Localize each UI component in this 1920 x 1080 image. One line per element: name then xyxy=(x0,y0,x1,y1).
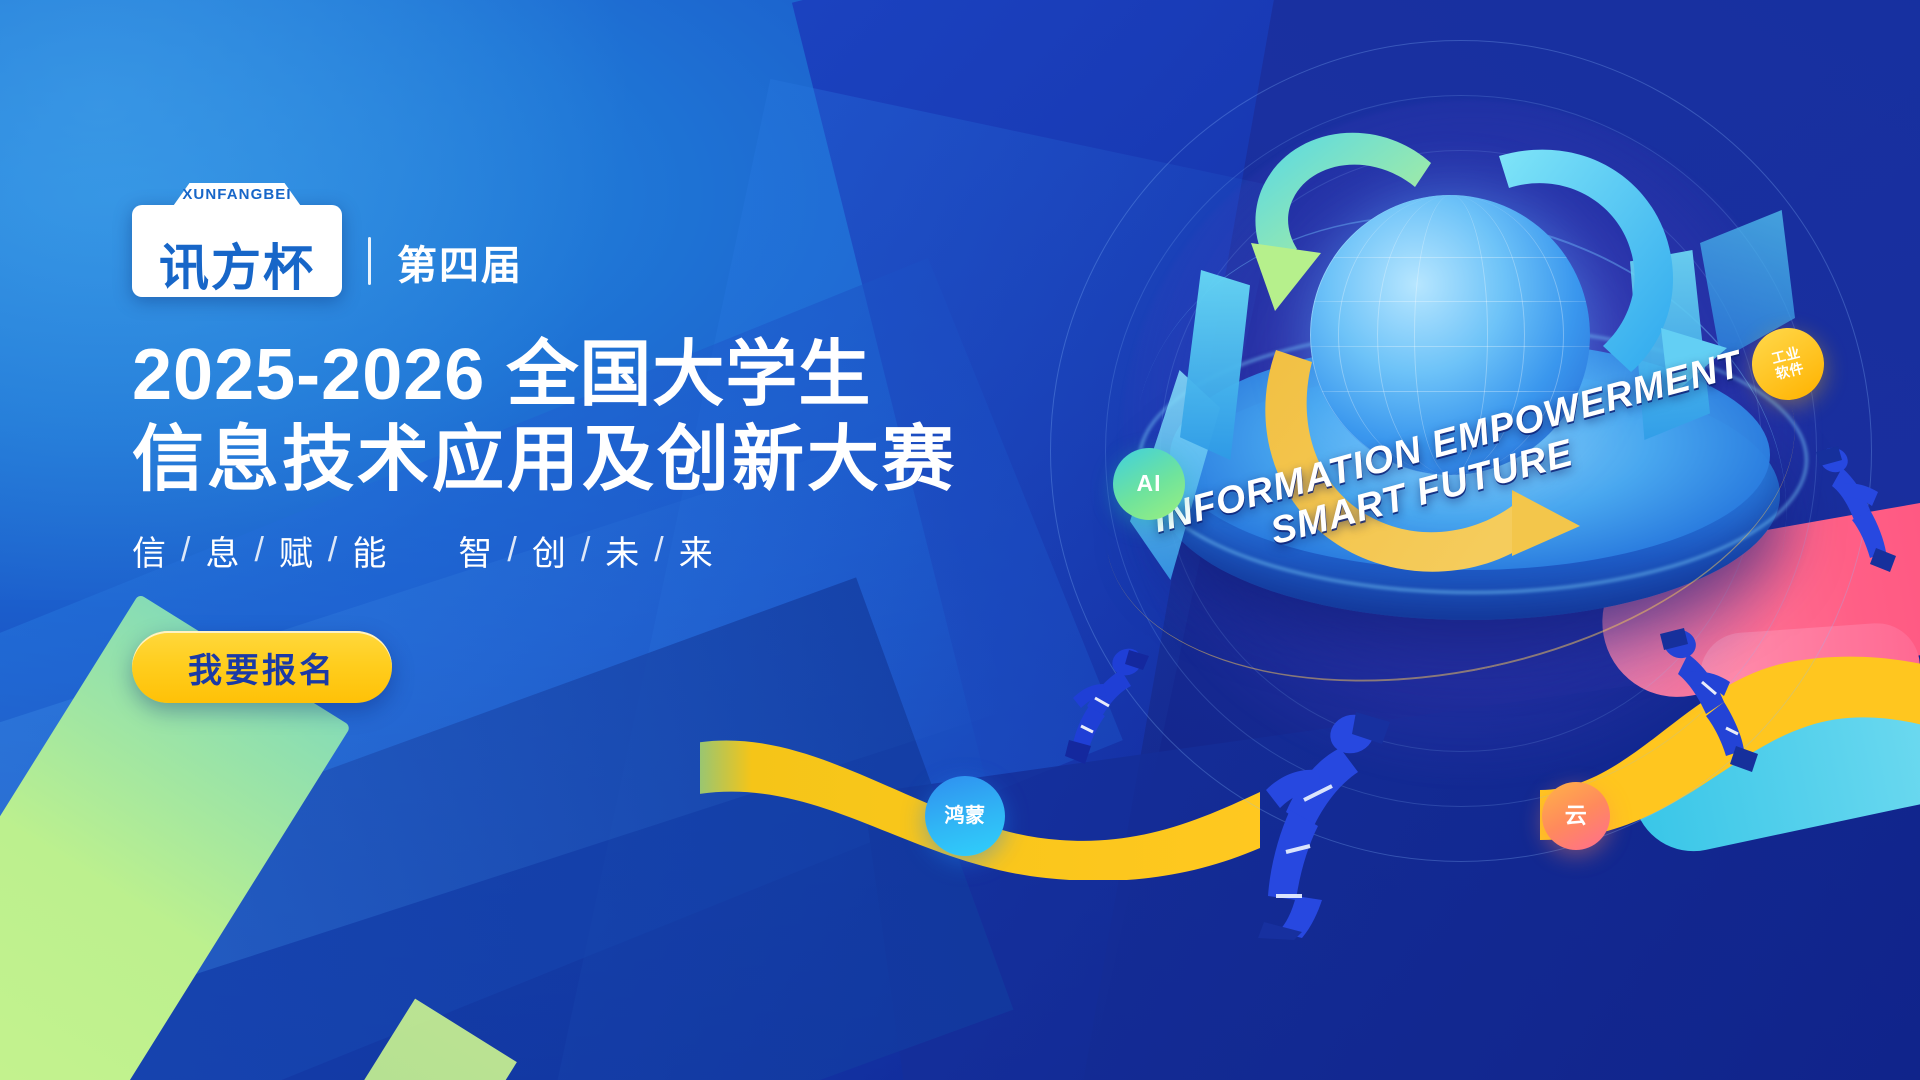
badge-cloud: 云 xyxy=(1542,782,1610,850)
runner-figure-3 xyxy=(1640,620,1770,800)
title-line-1: 2025-2026 全国大学生 xyxy=(132,335,1112,416)
tagline-char: 赋 xyxy=(279,526,315,575)
badge-ai: AI xyxy=(1113,448,1185,520)
tagline-char: 能 xyxy=(352,526,388,575)
brand-lockup: XUNFANGBEI 讯方杯 第四届 xyxy=(132,205,1112,297)
logo-pinyin: XUNFANGBEI xyxy=(182,186,291,203)
runner-figure-4 xyxy=(1790,440,1910,590)
runner-figure-2 xyxy=(1240,700,1410,940)
tagline-char: 未 xyxy=(605,526,641,575)
tagline-slash: / xyxy=(654,531,665,570)
tagline-slash: / xyxy=(507,531,518,570)
tagline: 信 / 息 / 赋 / 能 智 / 创 / 未 / 来 xyxy=(132,526,1112,575)
tagline-char: 息 xyxy=(205,526,241,575)
hero-content: XUNFANGBEI 讯方杯 第四届 2025-2026 全国大学生 信息技术应… xyxy=(132,205,1112,703)
tagline-slash: / xyxy=(328,531,339,570)
tagline-slash: / xyxy=(254,531,265,570)
promo-banner: INFORMATION EMPOWERMENT SMART FUTURE xyxy=(0,0,1920,1080)
tagline-group-right: 智 / 创 / 未 / 来 xyxy=(458,526,714,575)
logo-chinese-name: 讯方杯 xyxy=(132,243,342,293)
tagline-slash: / xyxy=(181,531,192,570)
edition-label: 第四届 xyxy=(397,233,523,291)
tagline-group-left: 信 / 息 / 赋 / 能 xyxy=(132,526,388,575)
register-button[interactable]: 我要报名 xyxy=(132,631,392,703)
tagline-char: 智 xyxy=(458,526,494,575)
tagline-char: 信 xyxy=(132,526,168,575)
xunfangbei-logo: XUNFANGBEI 讯方杯 xyxy=(132,205,342,297)
brand-divider xyxy=(368,237,371,285)
badge-harmony: 鸿蒙 xyxy=(925,776,1005,856)
tagline-slash: / xyxy=(581,531,592,570)
tagline-char: 创 xyxy=(532,526,568,575)
tagline-char: 来 xyxy=(679,526,715,575)
title-line-2: 信息技术应用及创新大赛 xyxy=(132,420,1112,501)
hero-artwork xyxy=(1010,40,1910,1040)
page-title: 2025-2026 全国大学生 信息技术应用及创新大赛 xyxy=(132,335,1112,500)
